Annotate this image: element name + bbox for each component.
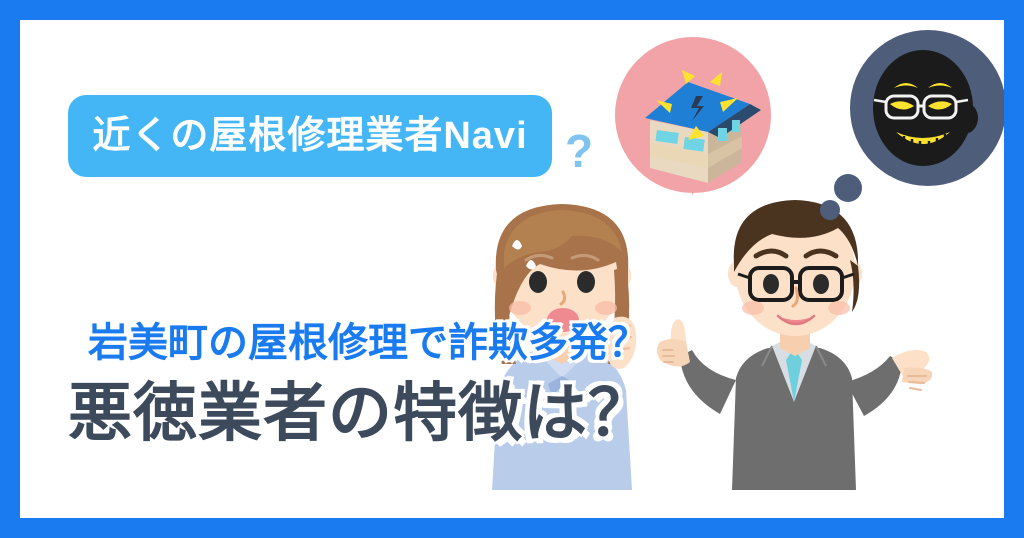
headline-subtitle: 岩美町の屋根修理で詐欺多発？ xyxy=(88,323,648,363)
banner-frame: 近くの屋根修理業者Navi ? 岩美町の屋根修理で詐欺多発？ 悪徳業者の特徴は？ xyxy=(0,0,1024,538)
headline-title: 悪徳業者の特徴は？ xyxy=(68,380,653,447)
banner-inner-card: 近くの屋根修理業者Navi ? 岩美町の屋根修理で詐欺多発？ 悪徳業者の特徴は？ xyxy=(20,20,1004,518)
